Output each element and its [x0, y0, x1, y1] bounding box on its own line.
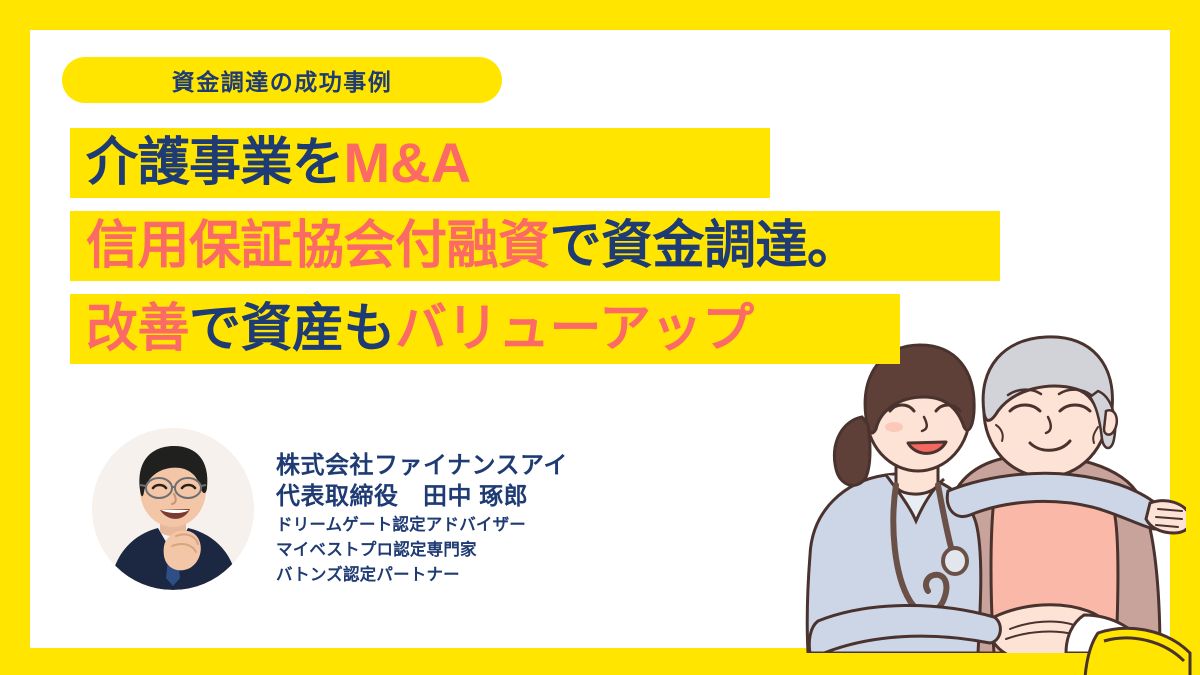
profile-name: 代表取締役 田中 琢郎	[276, 482, 568, 513]
headline-line-2-segment-1: 信用保証協会付融資	[86, 220, 550, 272]
poster-root: 資金調達の成功事例 介護事業を M&A 信用保証協会付融資 で資金調達。 改善 …	[0, 0, 1200, 675]
headline-line-3: 改善 で資産も バリューアップ	[70, 294, 900, 364]
headline-line-1-segment-2: M&A	[344, 135, 472, 191]
profile-company: 株式会社ファイナンスアイ	[276, 451, 568, 482]
headline: 介護事業を M&A 信用保証協会付融資 で資金調達。 改善 で資産も バリューア…	[70, 128, 1000, 377]
profile-credential-3: バトンズ認定パートナー	[276, 565, 568, 587]
headline-line-1-segment-1: 介護事業を	[86, 137, 344, 189]
headline-line-1: 介護事業を M&A	[70, 128, 770, 198]
profile-block: 株式会社ファイナンスアイ 代表取締役 田中 琢郎 ドリームゲート認定アドバイザー…	[92, 428, 568, 590]
section-badge: 資金調達の成功事例	[62, 57, 502, 103]
profile-credential-1: ドリームゲート認定アドバイザー	[276, 515, 568, 537]
headline-line-2-segment-2: で資金調達。	[550, 220, 859, 272]
headline-line-3-segment-3: バリューアップ	[395, 303, 753, 355]
profile-text: 株式会社ファイナンスアイ 代表取締役 田中 琢郎 ドリームゲート認定アドバイザー…	[276, 428, 568, 587]
section-badge-label: 資金調達の成功事例	[172, 63, 393, 97]
avatar	[92, 428, 254, 590]
headline-line-3-segment-2: で資産も	[189, 303, 395, 355]
headline-line-3-segment-1: 改善	[86, 303, 189, 355]
profile-credential-2: マイベストプロ認定専門家	[276, 540, 568, 562]
headline-line-2: 信用保証協会付融資 で資金調達。	[70, 211, 1000, 281]
